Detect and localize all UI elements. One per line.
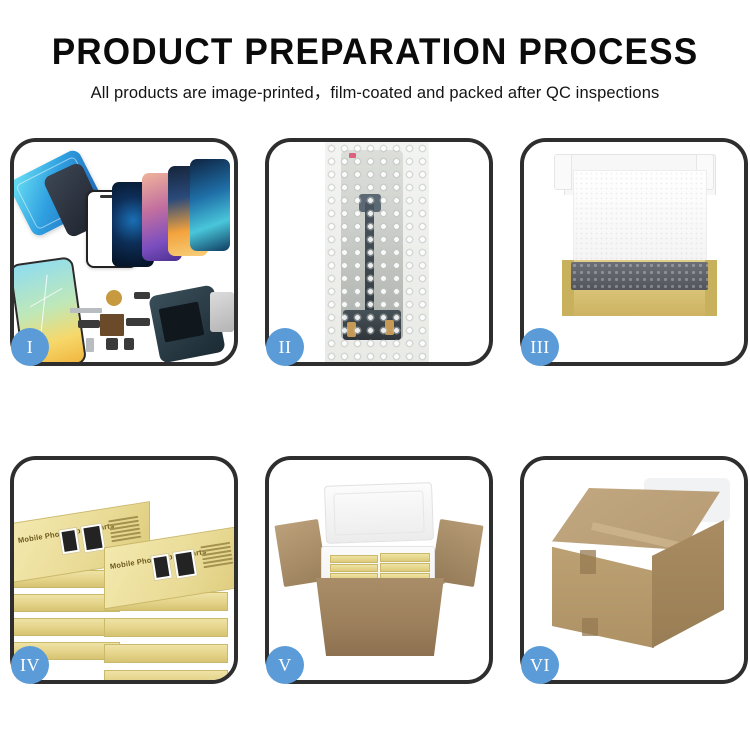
phone-teal — [190, 159, 230, 251]
spare-part-button — [124, 338, 134, 350]
box-spec-list-left — [108, 516, 141, 544]
packed-box-5 — [380, 553, 430, 562]
kraft-box-tray — [562, 260, 717, 316]
step-4-image: Mobile Phone Spare Parts Mobile Phone Sp… — [14, 460, 234, 680]
step-badge-5: V — [266, 646, 304, 684]
bubble-texture — [325, 142, 429, 362]
spare-part-speaker — [106, 290, 122, 306]
white-foam-sheet — [573, 170, 707, 264]
box-art-screen-b1 — [150, 553, 173, 582]
process-step-4: Mobile Phone Spare Parts Mobile Phone Sp… — [10, 456, 238, 684]
carton-tab-lower — [582, 618, 598, 636]
spare-part-sim-tray — [86, 338, 94, 352]
packed-box-1 — [330, 555, 378, 563]
styrofoam-lid — [324, 482, 434, 544]
process-step-1: I — [10, 138, 238, 366]
packed-box-6 — [380, 563, 430, 572]
process-step-6: VI — [520, 456, 748, 684]
box-lid-flap-left — [554, 154, 572, 190]
step-2-image — [269, 142, 489, 362]
spare-part-bracket — [70, 308, 102, 313]
product-preparation-infographic: PRODUCT PREPARATION PROCESS All products… — [0, 0, 750, 750]
box-stack: Mobile Phone Spare Parts Mobile Phone Sp… — [14, 474, 234, 680]
stack-box-r3 — [104, 644, 228, 663]
stack-box-r4 — [104, 670, 228, 680]
box-art-screen-a2 — [80, 522, 106, 553]
box-art-screen-a1 — [58, 527, 81, 556]
spare-part-camera — [106, 338, 118, 350]
page-subtitle: All products are image-printed，film-coat… — [0, 81, 750, 105]
step-badge-2: II — [266, 328, 304, 366]
box-spec-list-right — [200, 542, 233, 570]
step-1-image — [14, 142, 234, 362]
spare-part-flex-c — [126, 318, 150, 326]
carton-body — [309, 578, 451, 656]
grey-bubble-wrap-fill — [571, 262, 708, 290]
step-6-image — [524, 460, 744, 680]
carton-tab-upper — [580, 550, 596, 574]
step-badge-6: VI — [521, 646, 559, 684]
bubble-wrap-bag — [325, 142, 429, 362]
carton-front-face — [552, 538, 654, 648]
repair-tool — [210, 292, 234, 332]
packed-box-2 — [330, 564, 378, 572]
step-badge-1: I — [11, 328, 49, 366]
step-3-image — [524, 142, 744, 362]
spare-part-flex-a — [134, 292, 150, 299]
process-step-2: II — [265, 138, 493, 366]
carton-flap-right — [430, 519, 483, 587]
page-title: PRODUCT PREPARATION PROCESS — [19, 30, 732, 74]
step-badge-3: III — [521, 328, 559, 366]
step-badge-4: IV — [11, 646, 49, 684]
spare-part-ic-grid — [100, 314, 124, 336]
header: PRODUCT PREPARATION PROCESS All products… — [0, 0, 750, 105]
stack-box-r2 — [104, 618, 228, 637]
process-step-3: III — [520, 138, 748, 366]
step-5-image — [269, 460, 489, 680]
process-step-grid: I II — [10, 138, 741, 684]
box-art-screen-b2 — [172, 548, 198, 579]
process-step-5: V — [265, 456, 493, 684]
spare-part-flex-b — [78, 320, 100, 328]
carton-flap-left — [274, 519, 327, 587]
